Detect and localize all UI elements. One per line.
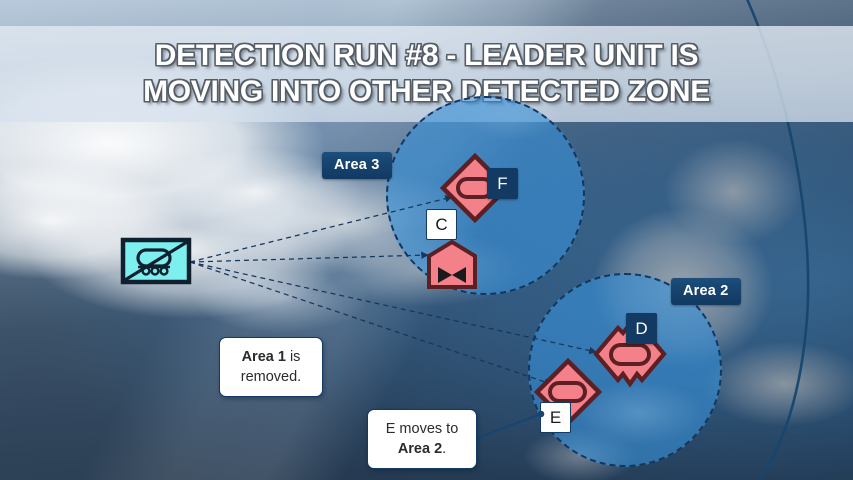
callout-e-bold: Area 2 — [398, 441, 442, 457]
callout-area1-bold: Area 1 — [242, 349, 286, 365]
callout-area1-removed[interactable]: Area 1 is removed. — [219, 337, 323, 397]
callout-e-line-2: Area 2. — [382, 439, 462, 459]
callout-connector-layer — [0, 0, 853, 480]
callout-area1-line-2: removed. — [234, 367, 308, 387]
callout-e-text-2: . — [442, 441, 446, 457]
connector-e-callout — [477, 414, 541, 438]
callout-e-line-1: E moves to — [382, 419, 462, 439]
connector-dot-chip — [538, 411, 545, 418]
callout-e-moves[interactable]: E moves to Area 2. — [367, 409, 477, 469]
callout-area1-line-1: Area 1 is — [234, 347, 308, 367]
callout-area1-text-1: is — [286, 349, 301, 365]
slide-canvas: DETECTION RUN #8 - LEADER UNIT IS MOVING… — [0, 0, 853, 480]
